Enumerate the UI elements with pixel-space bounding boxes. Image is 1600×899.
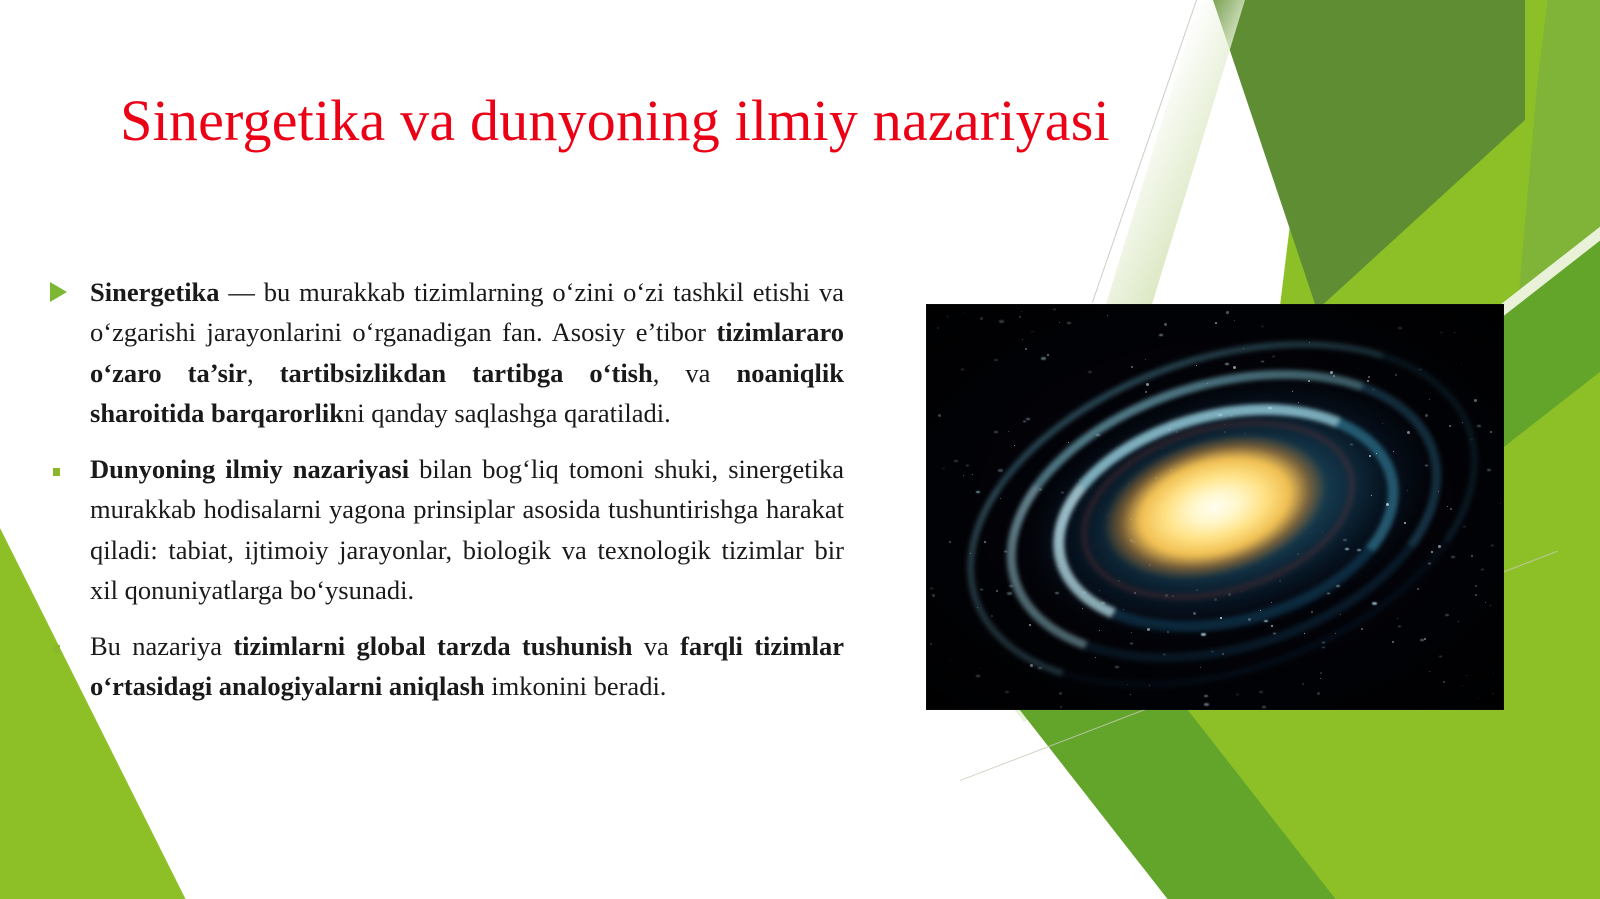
bullet-item: Bu nazariya tizimlarni global tarzda tus…	[44, 626, 844, 707]
dot-bullet-icon	[44, 626, 90, 660]
bullet-item: Dunyoning ilmiy nazariyasi bilan bog‘liq…	[44, 449, 844, 610]
bullet-text: Sinergetika — bu murakkab tizimlarning o…	[90, 272, 844, 433]
decorative-pale-strip-top-right	[1098, 0, 1245, 330]
galaxy-vignette	[927, 305, 1503, 709]
dot-bullet-icon	[44, 449, 90, 483]
bullet-item: Sinergetika — bu murakkab tizimlarning o…	[44, 272, 844, 433]
bullet-text: Dunyoning ilmiy nazariyasi bilan bog‘liq…	[90, 449, 844, 610]
presentation-slide: Sinergetika va dunyoning ilmiy nazariyas…	[0, 0, 1600, 899]
slide-body: Sinergetika — bu murakkab tizimlarning o…	[44, 272, 844, 707]
triangle-bullet-icon	[44, 272, 90, 306]
spiral-galaxy-image	[927, 305, 1503, 709]
bullet-text: Bu nazariya tizimlarni global tarzda tus…	[90, 626, 844, 707]
slide-title: Sinergetika va dunyoning ilmiy nazariyas…	[0, 88, 1230, 155]
decorative-dark-green-wedge	[1185, 0, 1525, 310]
